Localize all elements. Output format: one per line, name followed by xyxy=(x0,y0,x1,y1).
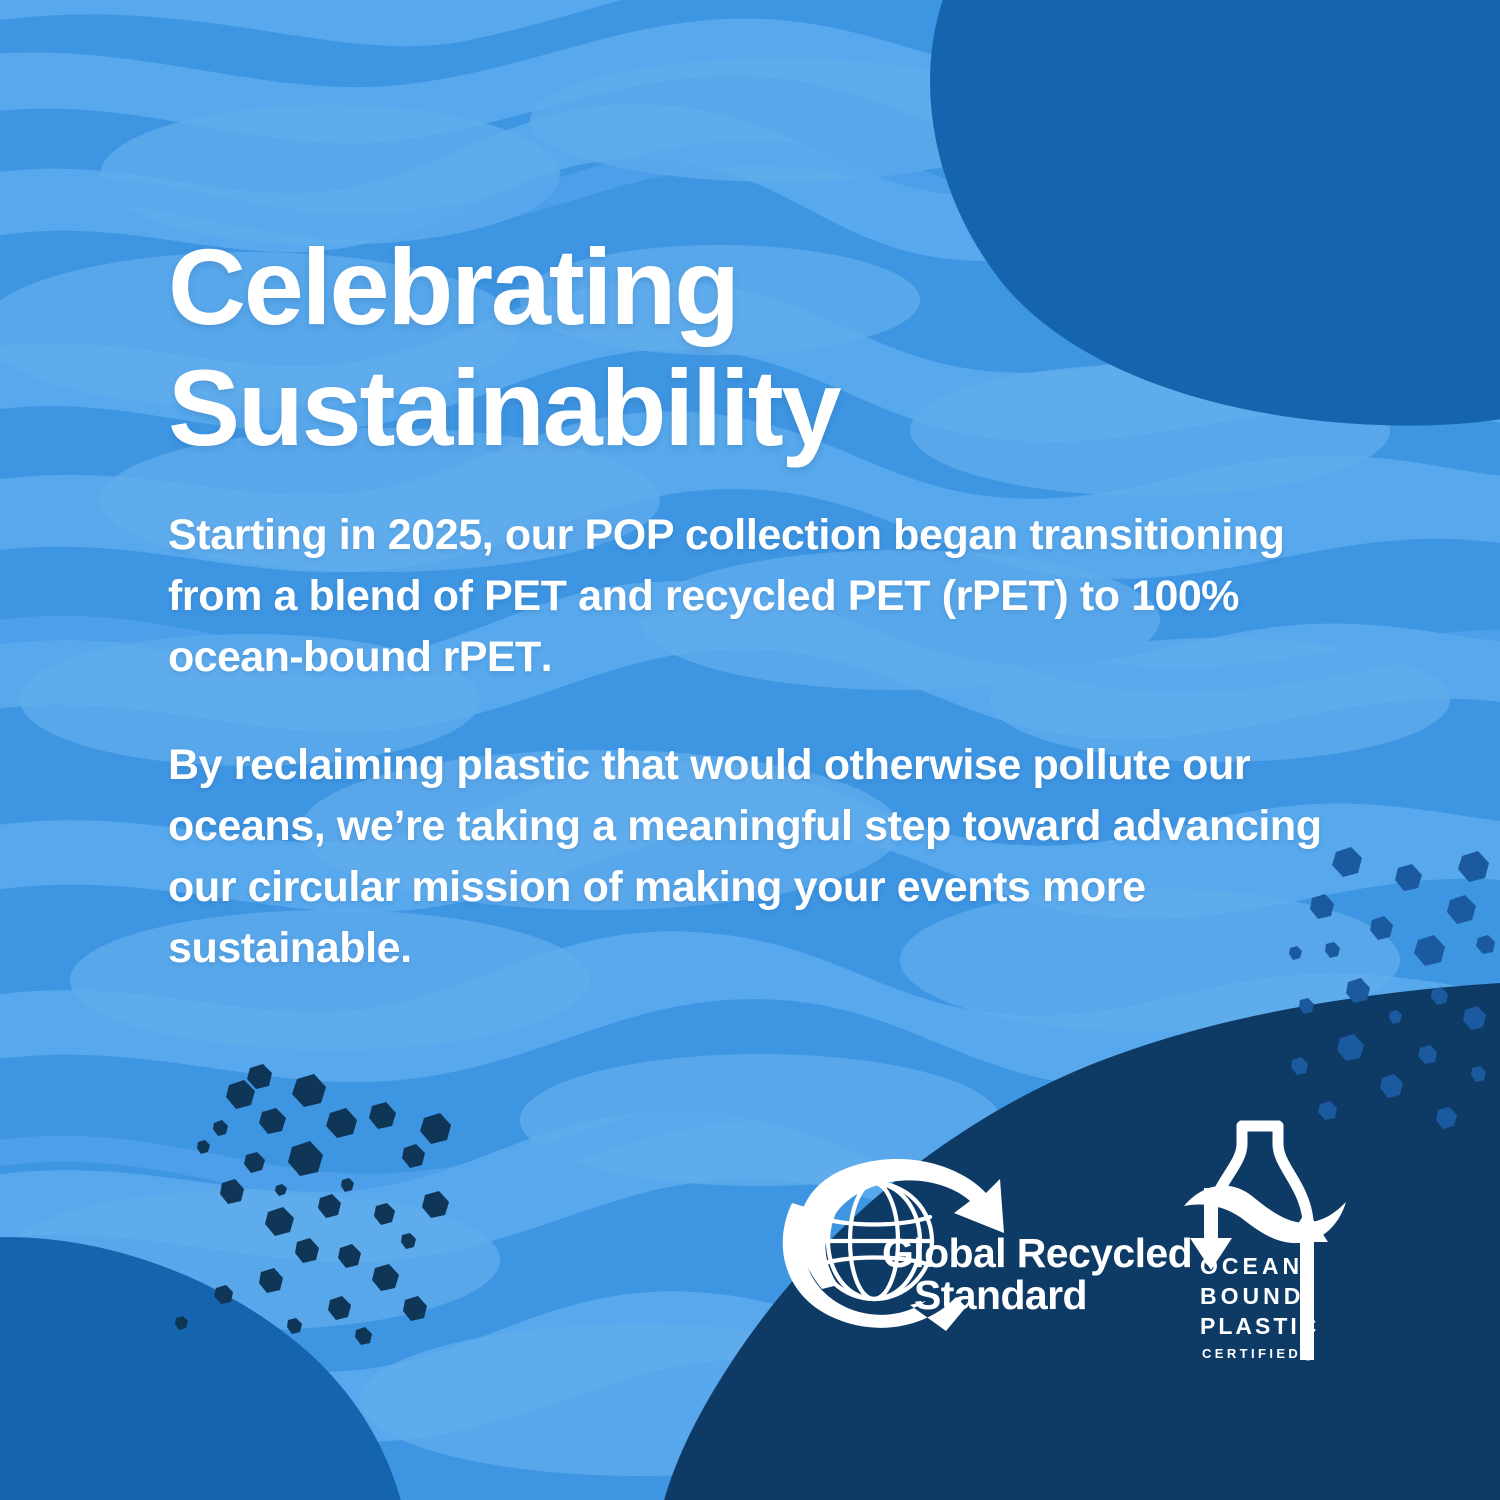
page-title: Celebrating Sustainability xyxy=(168,227,839,469)
body-paragraph-2: By reclaiming plastic that would otherwi… xyxy=(168,735,1348,979)
body-text: Starting in 2025, our POP collection beg… xyxy=(168,511,1285,620)
body-paragraph-1: Starting in 2025, our POP collection beg… xyxy=(168,505,1288,688)
sustainability-poster: Global Recycled Standard OCEAN BOUND PLA… xyxy=(0,0,1500,1500)
body-text: . xyxy=(541,633,553,681)
body-text: By reclaiming plastic that would otherwi… xyxy=(168,741,1322,972)
